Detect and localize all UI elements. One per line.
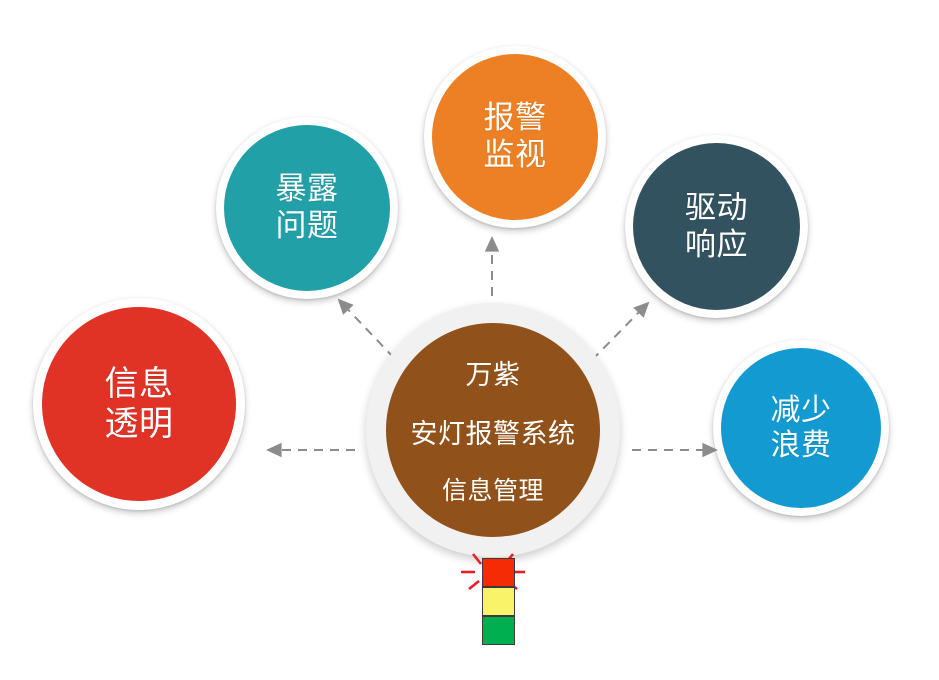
node-reduce-waste-label-line1: 减少 [771, 393, 832, 428]
arrow-hub-to-expose-problems [339, 300, 394, 358]
node-reduce-waste[interactable]: 减少 浪费 [713, 340, 889, 516]
node-drive-response-label-line1: 驱动 [685, 190, 748, 227]
node-reduce-waste-disc: 减少 浪费 [721, 348, 881, 508]
node-alarm-monitoring-label-line2: 监视 [484, 137, 547, 174]
center-hub[interactable]: 万紫 安灯报警系统 信息管理 [366, 303, 620, 557]
node-expose-problems-label-line2: 问题 [276, 208, 339, 245]
node-information-transparency[interactable]: 信息 透明 [33, 298, 245, 510]
center-hub-line-1: 万紫 [466, 353, 521, 392]
center-hub-line-3: 信息管理 [442, 471, 544, 507]
node-drive-response-label-line2: 响应 [685, 227, 748, 264]
center-hub-line-2: 安灯报警系统 [411, 412, 576, 451]
node-drive-response[interactable]: 驱动 响应 [625, 135, 808, 318]
node-expose-problems-label-line1: 暴露 [276, 171, 339, 208]
center-hub-disc: 万紫 安灯报警系统 信息管理 [386, 323, 600, 537]
node-reduce-waste-label-line2: 浪费 [771, 428, 832, 463]
andon-lamp-red [482, 558, 515, 587]
arrow-hub-to-drive-response [592, 303, 648, 360]
node-expose-problems-disc: 暴露 问题 [224, 125, 390, 291]
node-information-transparency-disc: 信息 透明 [42, 307, 236, 501]
andon-lamp-green [482, 616, 515, 645]
node-expose-problems[interactable]: 暴露 问题 [216, 117, 398, 299]
node-alarm-monitoring[interactable]: 报警 监视 [424, 46, 606, 228]
andon-light-tower [455, 548, 531, 650]
node-information-transparency-label-line1: 信息 [105, 364, 174, 404]
node-information-transparency-label-line2: 透明 [105, 404, 174, 444]
andon-lamp-yellow [482, 587, 515, 616]
diagram-canvas: 信息 透明 暴露 问题 报警 监视 驱动 响应 减少 浪费 万紫 安灯报警系统 [0, 0, 939, 680]
node-alarm-monitoring-label-line1: 报警 [484, 100, 547, 137]
node-alarm-monitoring-disc: 报警 监视 [432, 54, 598, 220]
node-drive-response-disc: 驱动 响应 [633, 143, 800, 310]
